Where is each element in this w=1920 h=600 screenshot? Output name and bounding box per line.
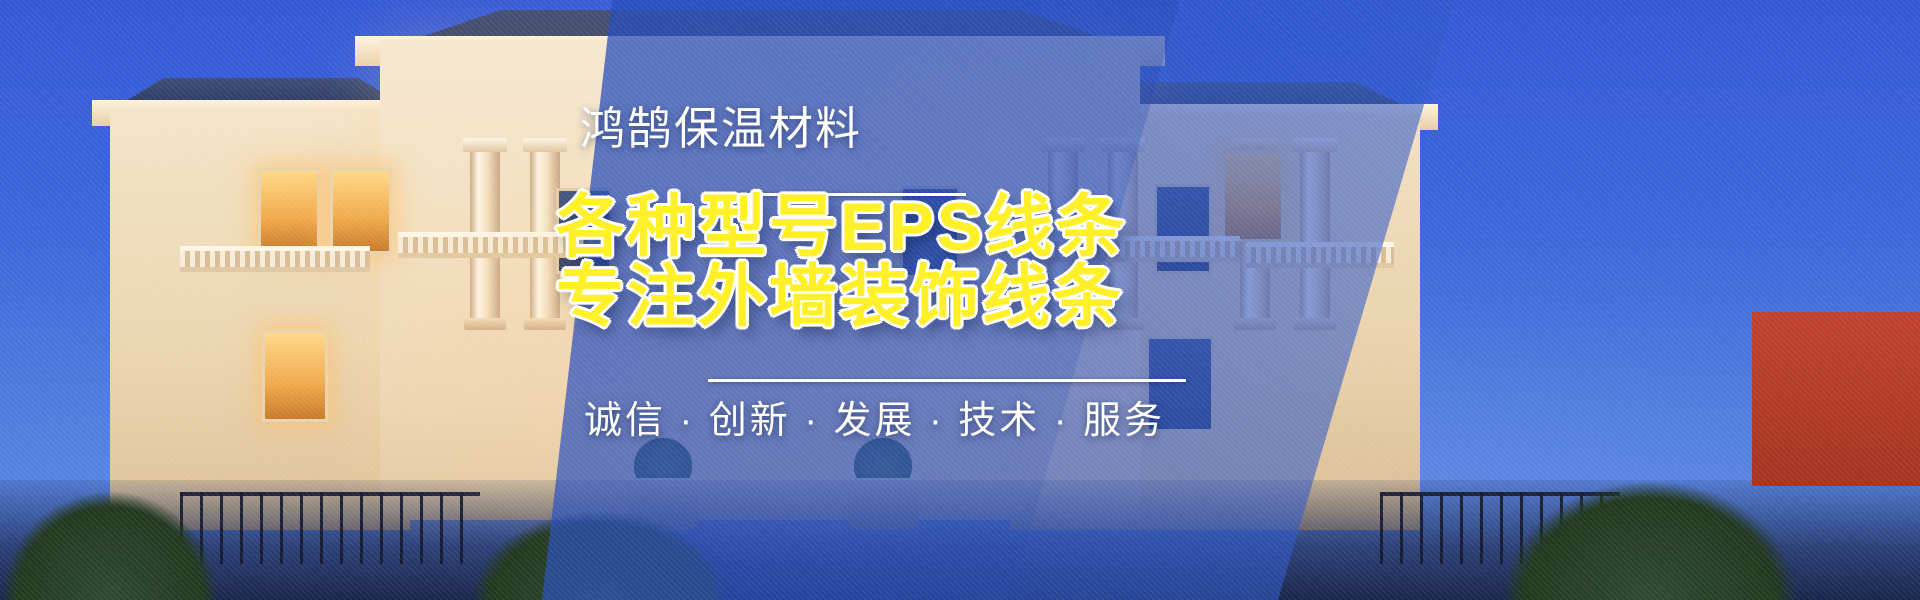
headline-line-1: 各种型号EPS线条	[556, 193, 1127, 261]
red-panel	[1752, 312, 1920, 486]
balustrade	[180, 246, 370, 272]
brand-name: 鸿鹄保温材料	[580, 106, 862, 151]
window-glowing	[258, 168, 320, 254]
window-glowing	[330, 168, 392, 254]
window-glowing	[262, 330, 328, 422]
window-glowing	[1222, 150, 1284, 242]
column	[1300, 150, 1330, 320]
divider-bottom	[708, 379, 1186, 382]
shrub	[470, 510, 730, 600]
hero-banner: 鸿鹄保温材料 各种型号EPS线条 专注外墙装饰线条 诚信 · 创新 · 发展 ·…	[0, 0, 1920, 600]
balustrade	[1246, 242, 1394, 268]
tagline: 诚信 · 创新 · 发展 · 技术 · 服务	[584, 402, 1165, 440]
iron-fence	[180, 492, 480, 564]
headline-line-2: 专注外墙装饰线条	[556, 263, 1124, 331]
shrub	[1500, 480, 1800, 600]
shrub	[0, 490, 220, 600]
